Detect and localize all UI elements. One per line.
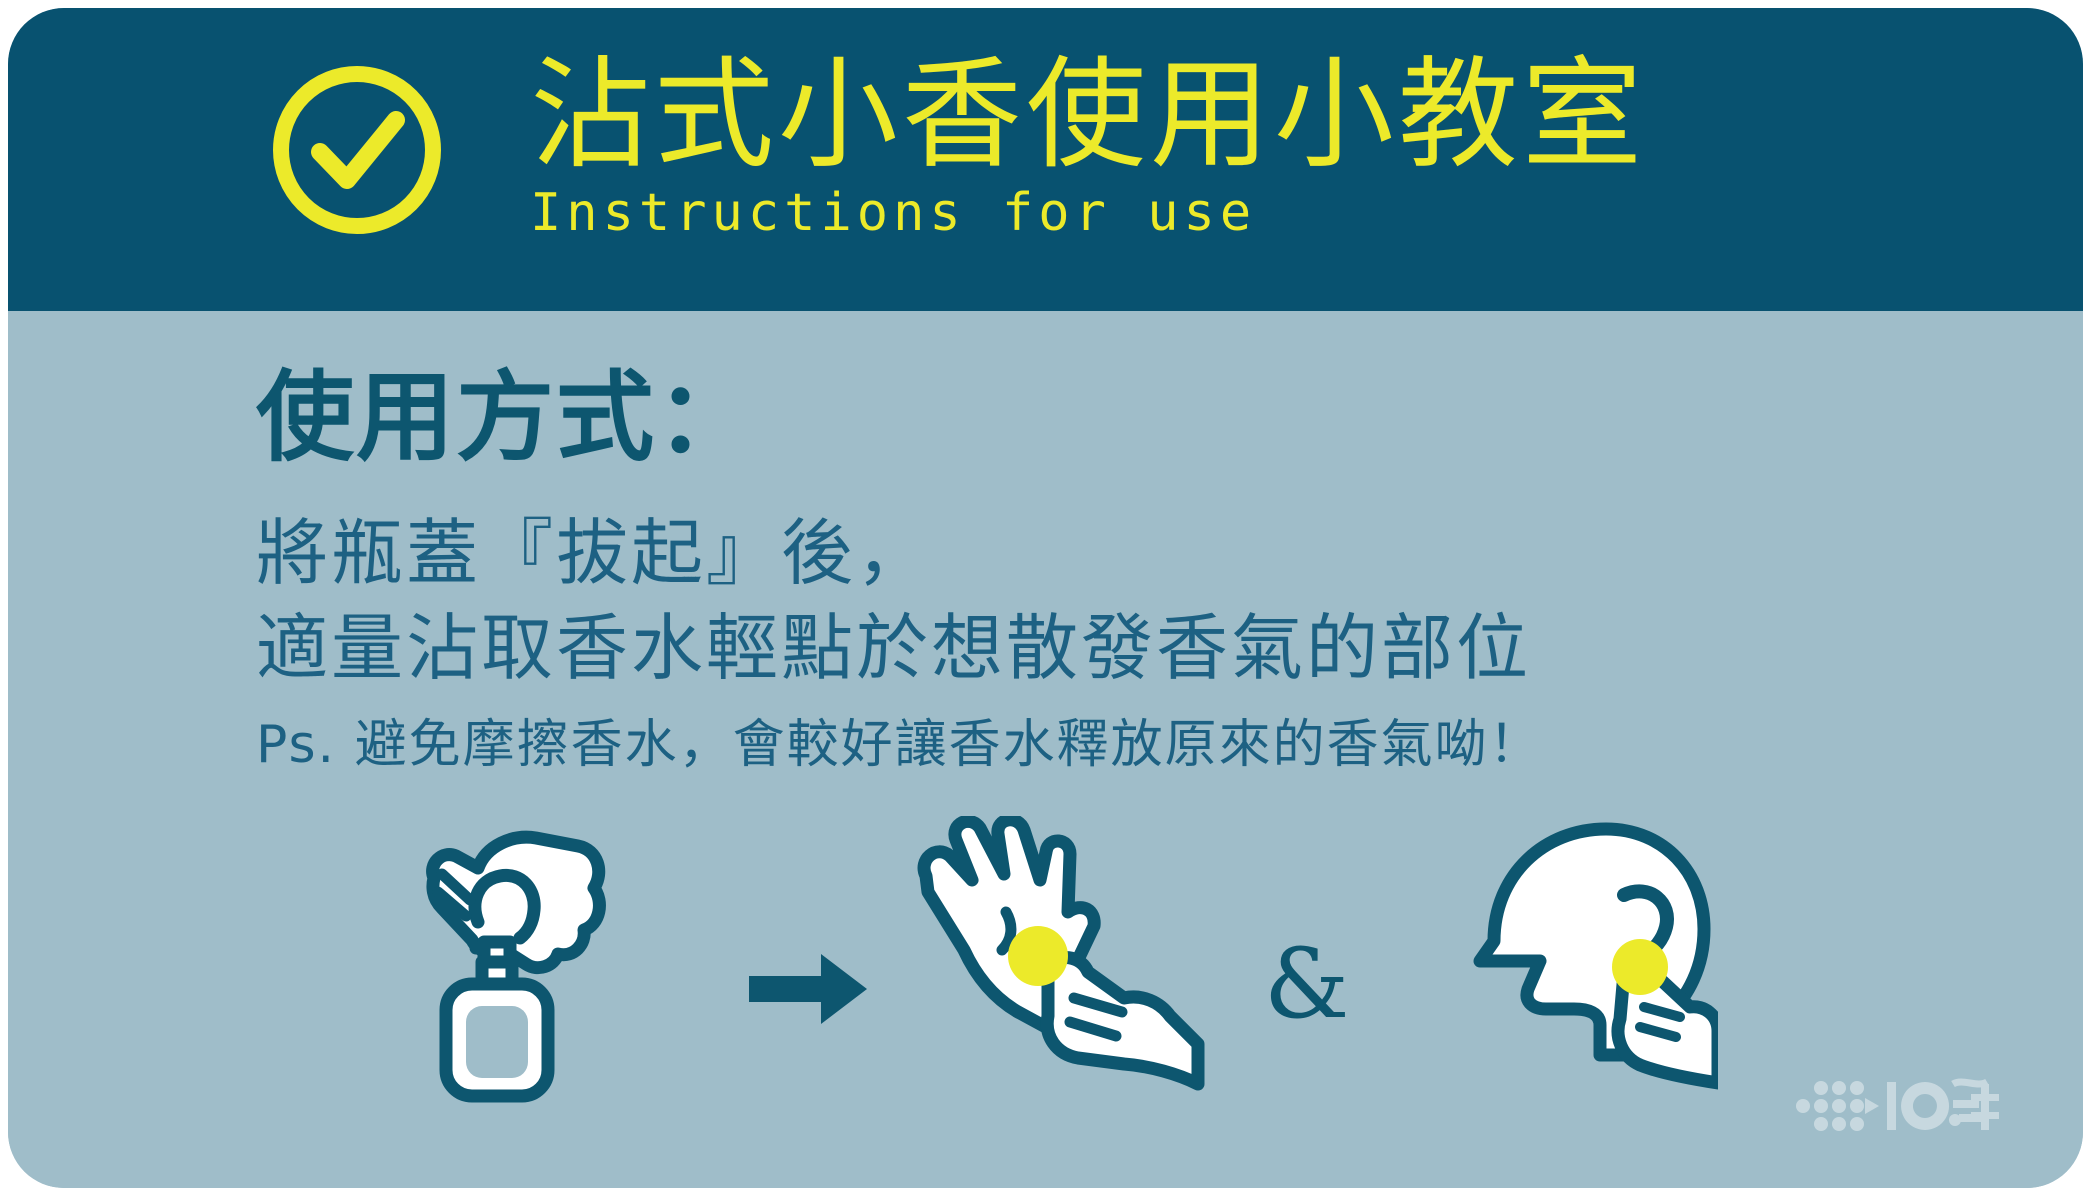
check-circle-icon — [270, 63, 444, 237]
arrow-right-icon — [743, 944, 873, 1034]
header-title-block: 沾式小香使用小教室 Instructions for use — [530, 54, 1646, 242]
perfume-dot — [1612, 939, 1668, 995]
instruction-card: 沾式小香使用小教室 Instructions for use 使用方式： 將瓶蓋… — [8, 8, 2083, 1188]
conjunction-ampersand: & — [1264, 936, 1349, 1032]
page-subtitle: Instructions for use — [530, 184, 1646, 242]
bottle-cap-pull-illustration — [408, 816, 708, 1106]
page-title: 沾式小香使用小教室 — [530, 54, 1646, 178]
card-header: 沾式小香使用小教室 Instructions for use — [8, 8, 2083, 311]
wrist-dab-illustration — [898, 816, 1208, 1116]
illustration-row: & — [8, 816, 2083, 1146]
ear-dab-illustration — [1428, 811, 1718, 1111]
perfume-dot — [1008, 926, 1068, 986]
instruction-line-2: 適量沾取香水輕點於想散發香氣的部位 — [256, 609, 1531, 687]
section-heading: 使用方式： — [256, 366, 756, 470]
brand-watermark — [1795, 1070, 2005, 1140]
instruction-line-1: 將瓶蓋『拔起』後， — [256, 514, 931, 592]
card-body: 使用方式： 將瓶蓋『拔起』後， 適量沾取香水輕點於想散發香氣的部位 Ps. 避免… — [8, 311, 2083, 1188]
instruction-ps-note: Ps. 避免摩擦香水，會較好讓香水釋放原來的香氣呦！ — [256, 716, 1543, 774]
